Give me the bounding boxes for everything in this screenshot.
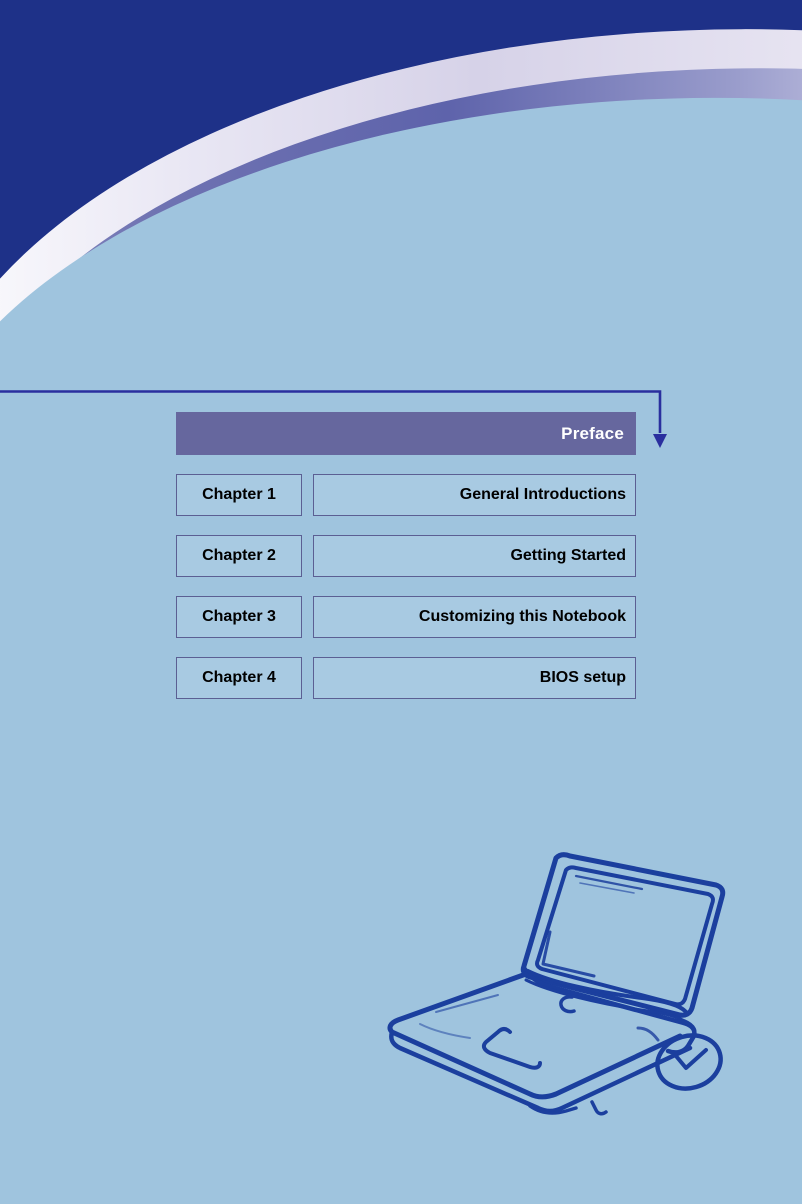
toc-chapter-cell[interactable]: Chapter 4: [176, 657, 302, 699]
toc-banner-label: Preface: [561, 424, 624, 444]
toc-row[interactable]: Chapter 1 General Introductions: [176, 474, 636, 516]
toc-title-label: BIOS setup: [540, 669, 626, 687]
toc-title-cell[interactable]: Customizing this Notebook: [313, 596, 636, 638]
toc-chapter-label: Chapter 2: [202, 547, 276, 565]
toc-title-cell[interactable]: BIOS setup: [313, 657, 636, 699]
toc-chapter-cell[interactable]: Chapter 3: [176, 596, 302, 638]
toc-title-label: Getting Started: [510, 547, 626, 565]
toc-banner-preface[interactable]: Preface: [176, 412, 636, 455]
toc-chapter-label: Chapter 1: [202, 486, 276, 504]
toc-title-label: General Introductions: [460, 486, 626, 504]
table-of-contents: Preface Chapter 1 General Introductions …: [176, 412, 636, 699]
toc-chapter-label: Chapter 3: [202, 608, 276, 626]
toc-chapter-label: Chapter 4: [202, 669, 276, 687]
toc-row[interactable]: Chapter 3 Customizing this Notebook: [176, 596, 636, 638]
page-root: Preface Chapter 1 General Introductions …: [0, 0, 802, 1204]
toc-row[interactable]: Chapter 4 BIOS setup: [176, 657, 636, 699]
toc-chapter-cell[interactable]: Chapter 2: [176, 535, 302, 577]
toc-row[interactable]: Chapter 2 Getting Started: [176, 535, 636, 577]
toc-title-cell[interactable]: General Introductions: [313, 474, 636, 516]
laptop-and-mouse-sketch-icon: [380, 840, 740, 1130]
toc-title-label: Customizing this Notebook: [419, 608, 626, 626]
header-curve-decoration: [0, 0, 802, 420]
toc-chapter-cell[interactable]: Chapter 1: [176, 474, 302, 516]
toc-title-cell[interactable]: Getting Started: [313, 535, 636, 577]
